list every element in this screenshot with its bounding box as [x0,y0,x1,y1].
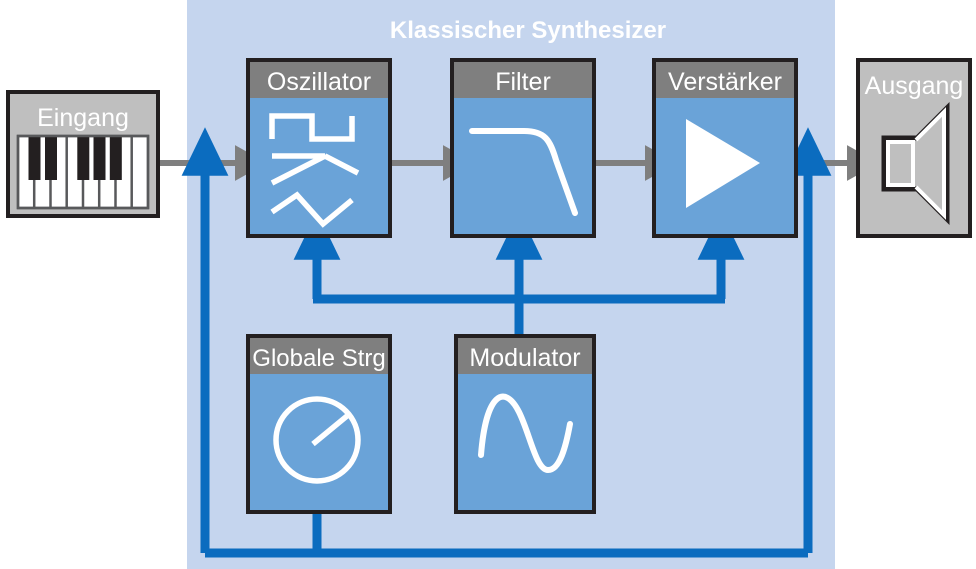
io-block-eingang[interactable]: Eingang [8,92,158,216]
verstaerker-label: Verstärker [668,68,782,96]
piano-keyboard-icon [18,136,148,208]
globale-strg-label: Globale Strg [252,345,385,372]
module-globale-strg[interactable]: Globale Strg [248,336,390,512]
synthesizer-signal-flow-diagram: Klassischer Synthesizer Eingang [0,0,976,569]
io-block-ausgang[interactable]: Ausgang [858,60,970,236]
modulator-label: Modulator [469,344,580,372]
module-verstaerker[interactable]: Verstärker [654,60,796,236]
eingang-label: Eingang [37,104,129,132]
oszillator-label: Oszillator [267,68,371,96]
diagram-canvas: Klassischer Synthesizer Eingang [0,0,976,569]
module-oszillator[interactable]: Oszillator [248,60,390,236]
module-filter[interactable]: Filter [452,60,594,236]
ausgang-label: Ausgang [865,72,964,100]
panel-title: Klassischer Synthesizer [390,17,666,44]
module-modulator[interactable]: Modulator [456,336,594,512]
filter-label: Filter [495,68,551,96]
